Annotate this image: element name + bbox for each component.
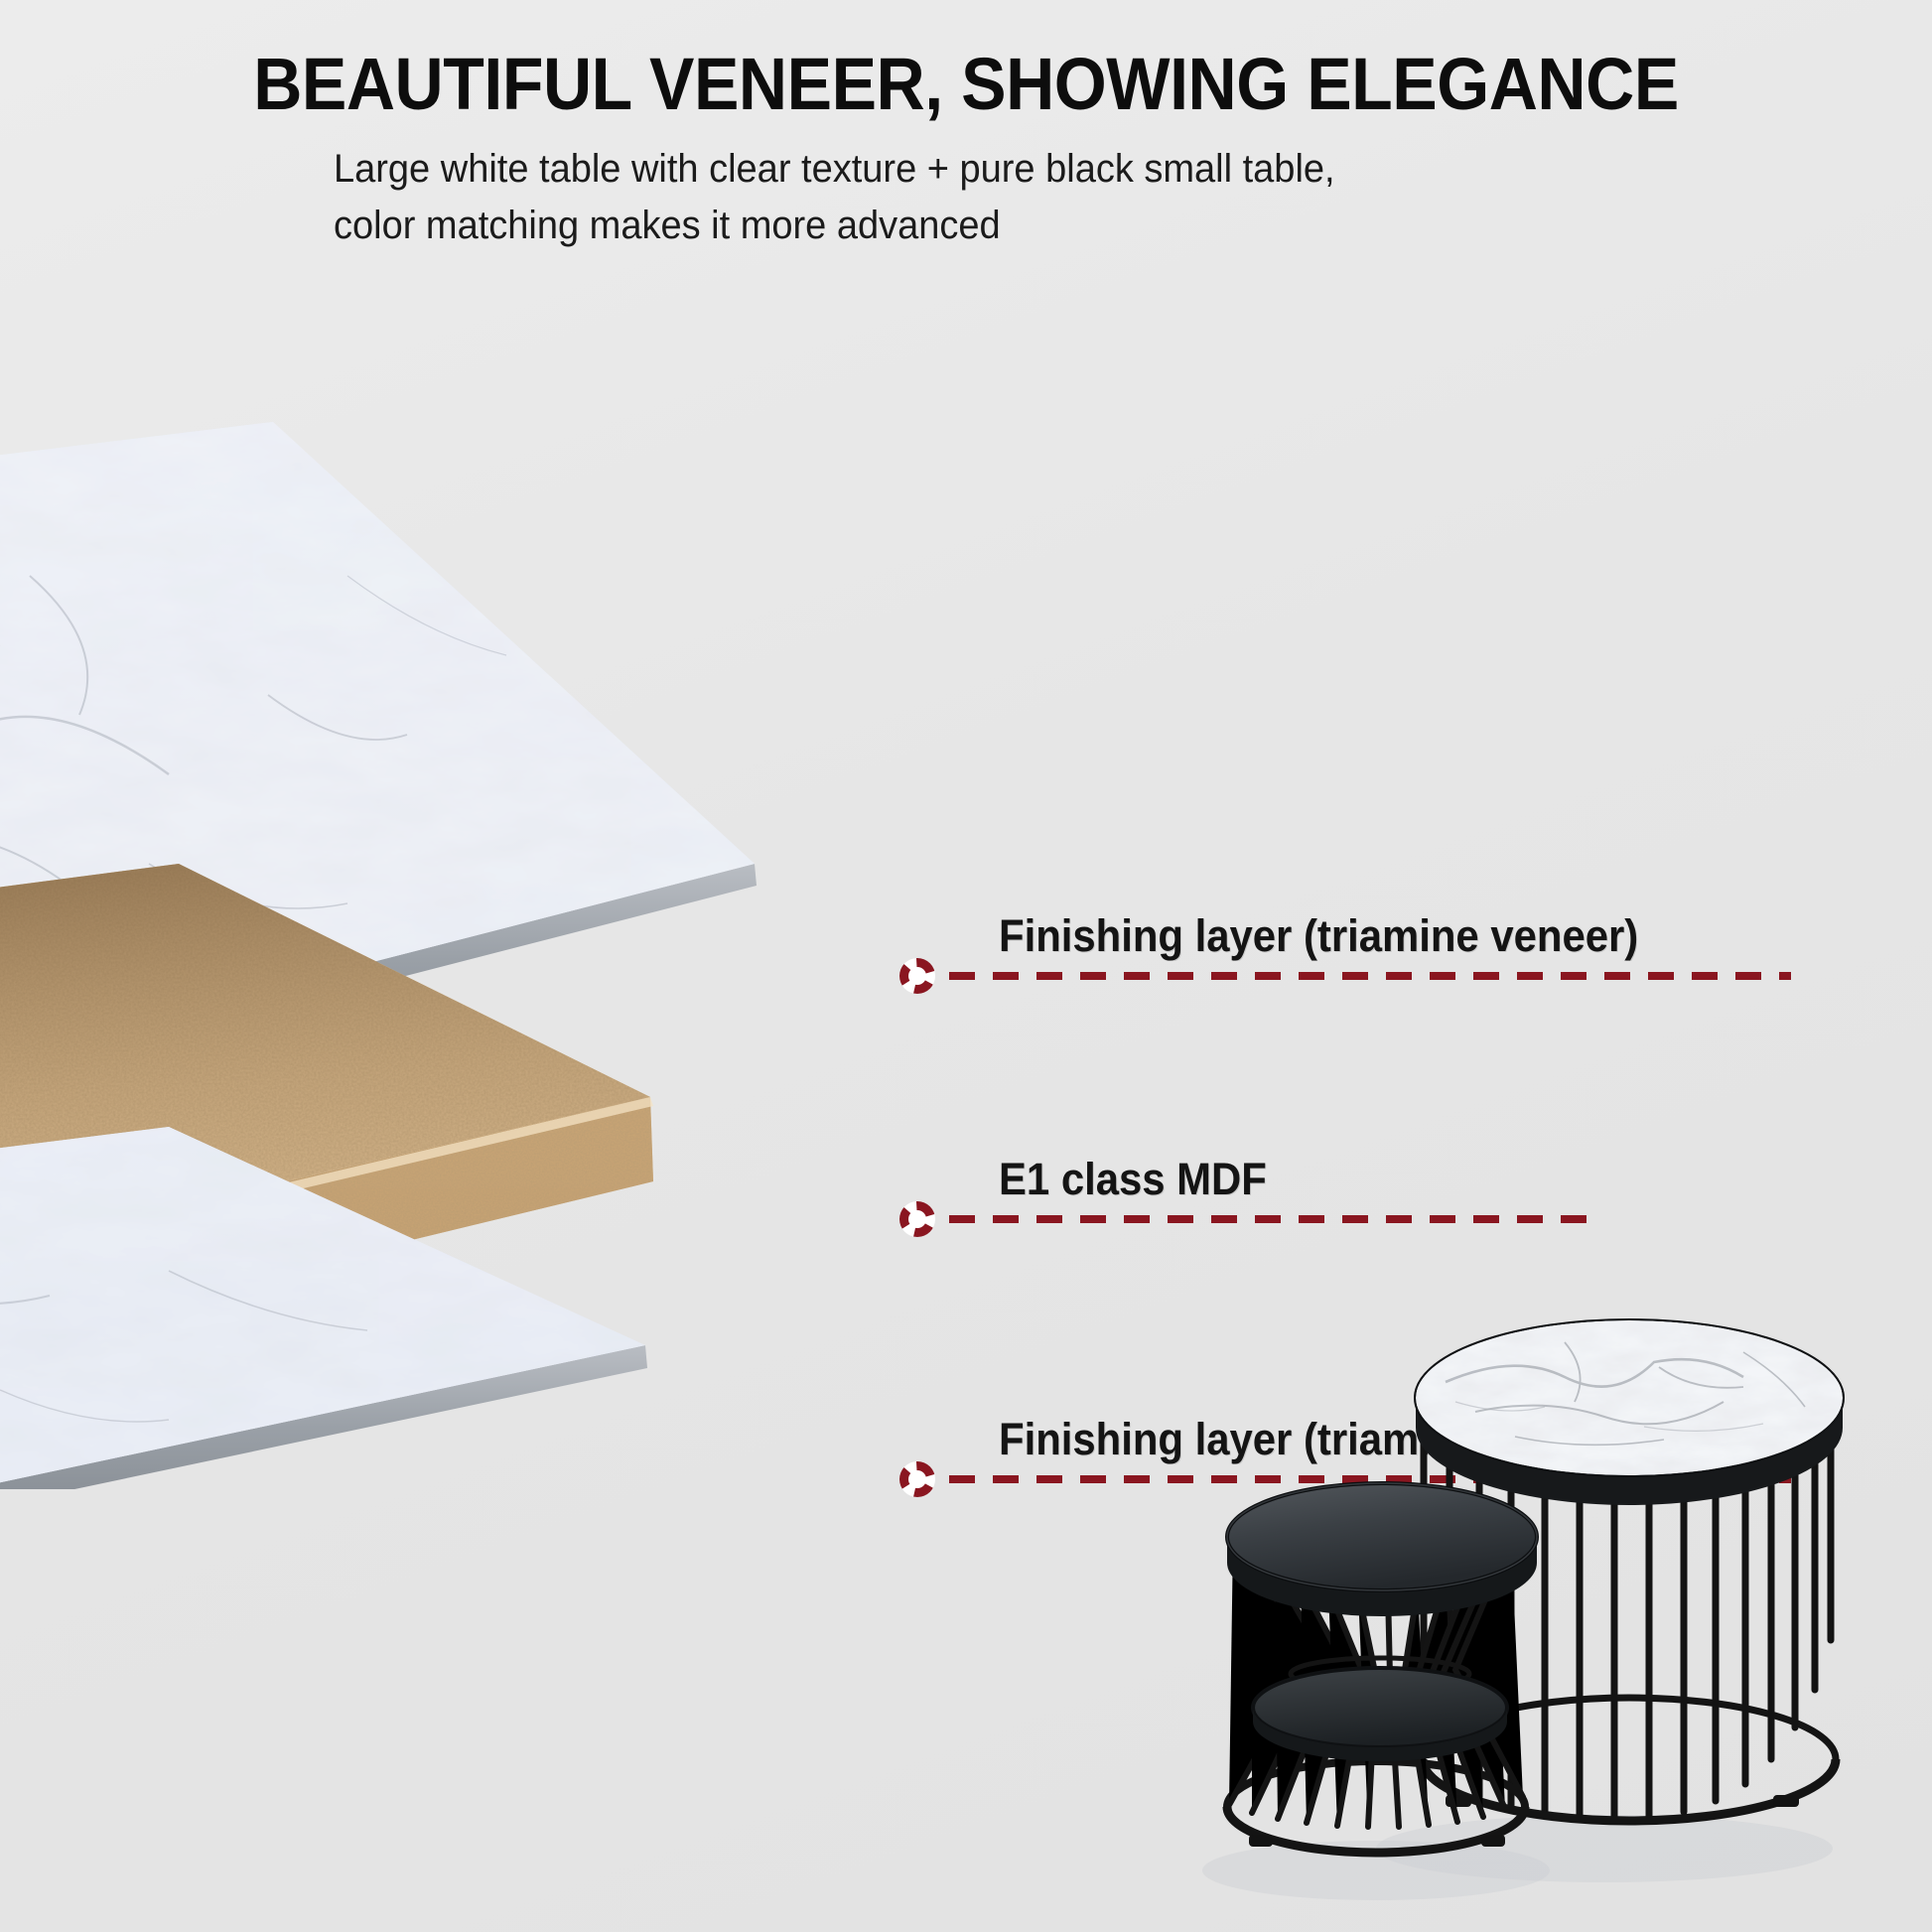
layered-board-diagram <box>0 397 864 1489</box>
page-title: BEAUTIFUL VENEER, SHOWING ELEGANCE <box>77 46 1855 123</box>
dashed-circle-marker-icon <box>899 958 935 994</box>
dashed-circle-marker-icon <box>899 1461 935 1497</box>
page-subtitle: Large white table with clear texture + p… <box>334 141 1352 254</box>
dashed-leader-line <box>949 972 1791 980</box>
subtitle-line-1: Large white table with clear texture + p… <box>334 141 1352 198</box>
callout-label: Finishing layer (triamine veneer) <box>999 910 1638 962</box>
infographic-canvas: BEAUTIFUL VENEER, SHOWING ELEGANCE Large… <box>0 0 1932 1932</box>
small-black-table <box>1227 1483 1537 1853</box>
dashed-circle-marker-icon <box>899 1201 935 1237</box>
subtitle-line-2: color matching makes it more advanced <box>334 198 1352 254</box>
product-photo-nesting-tables <box>1048 1203 1922 1932</box>
callout-label: E1 class MDF <box>999 1154 1267 1205</box>
